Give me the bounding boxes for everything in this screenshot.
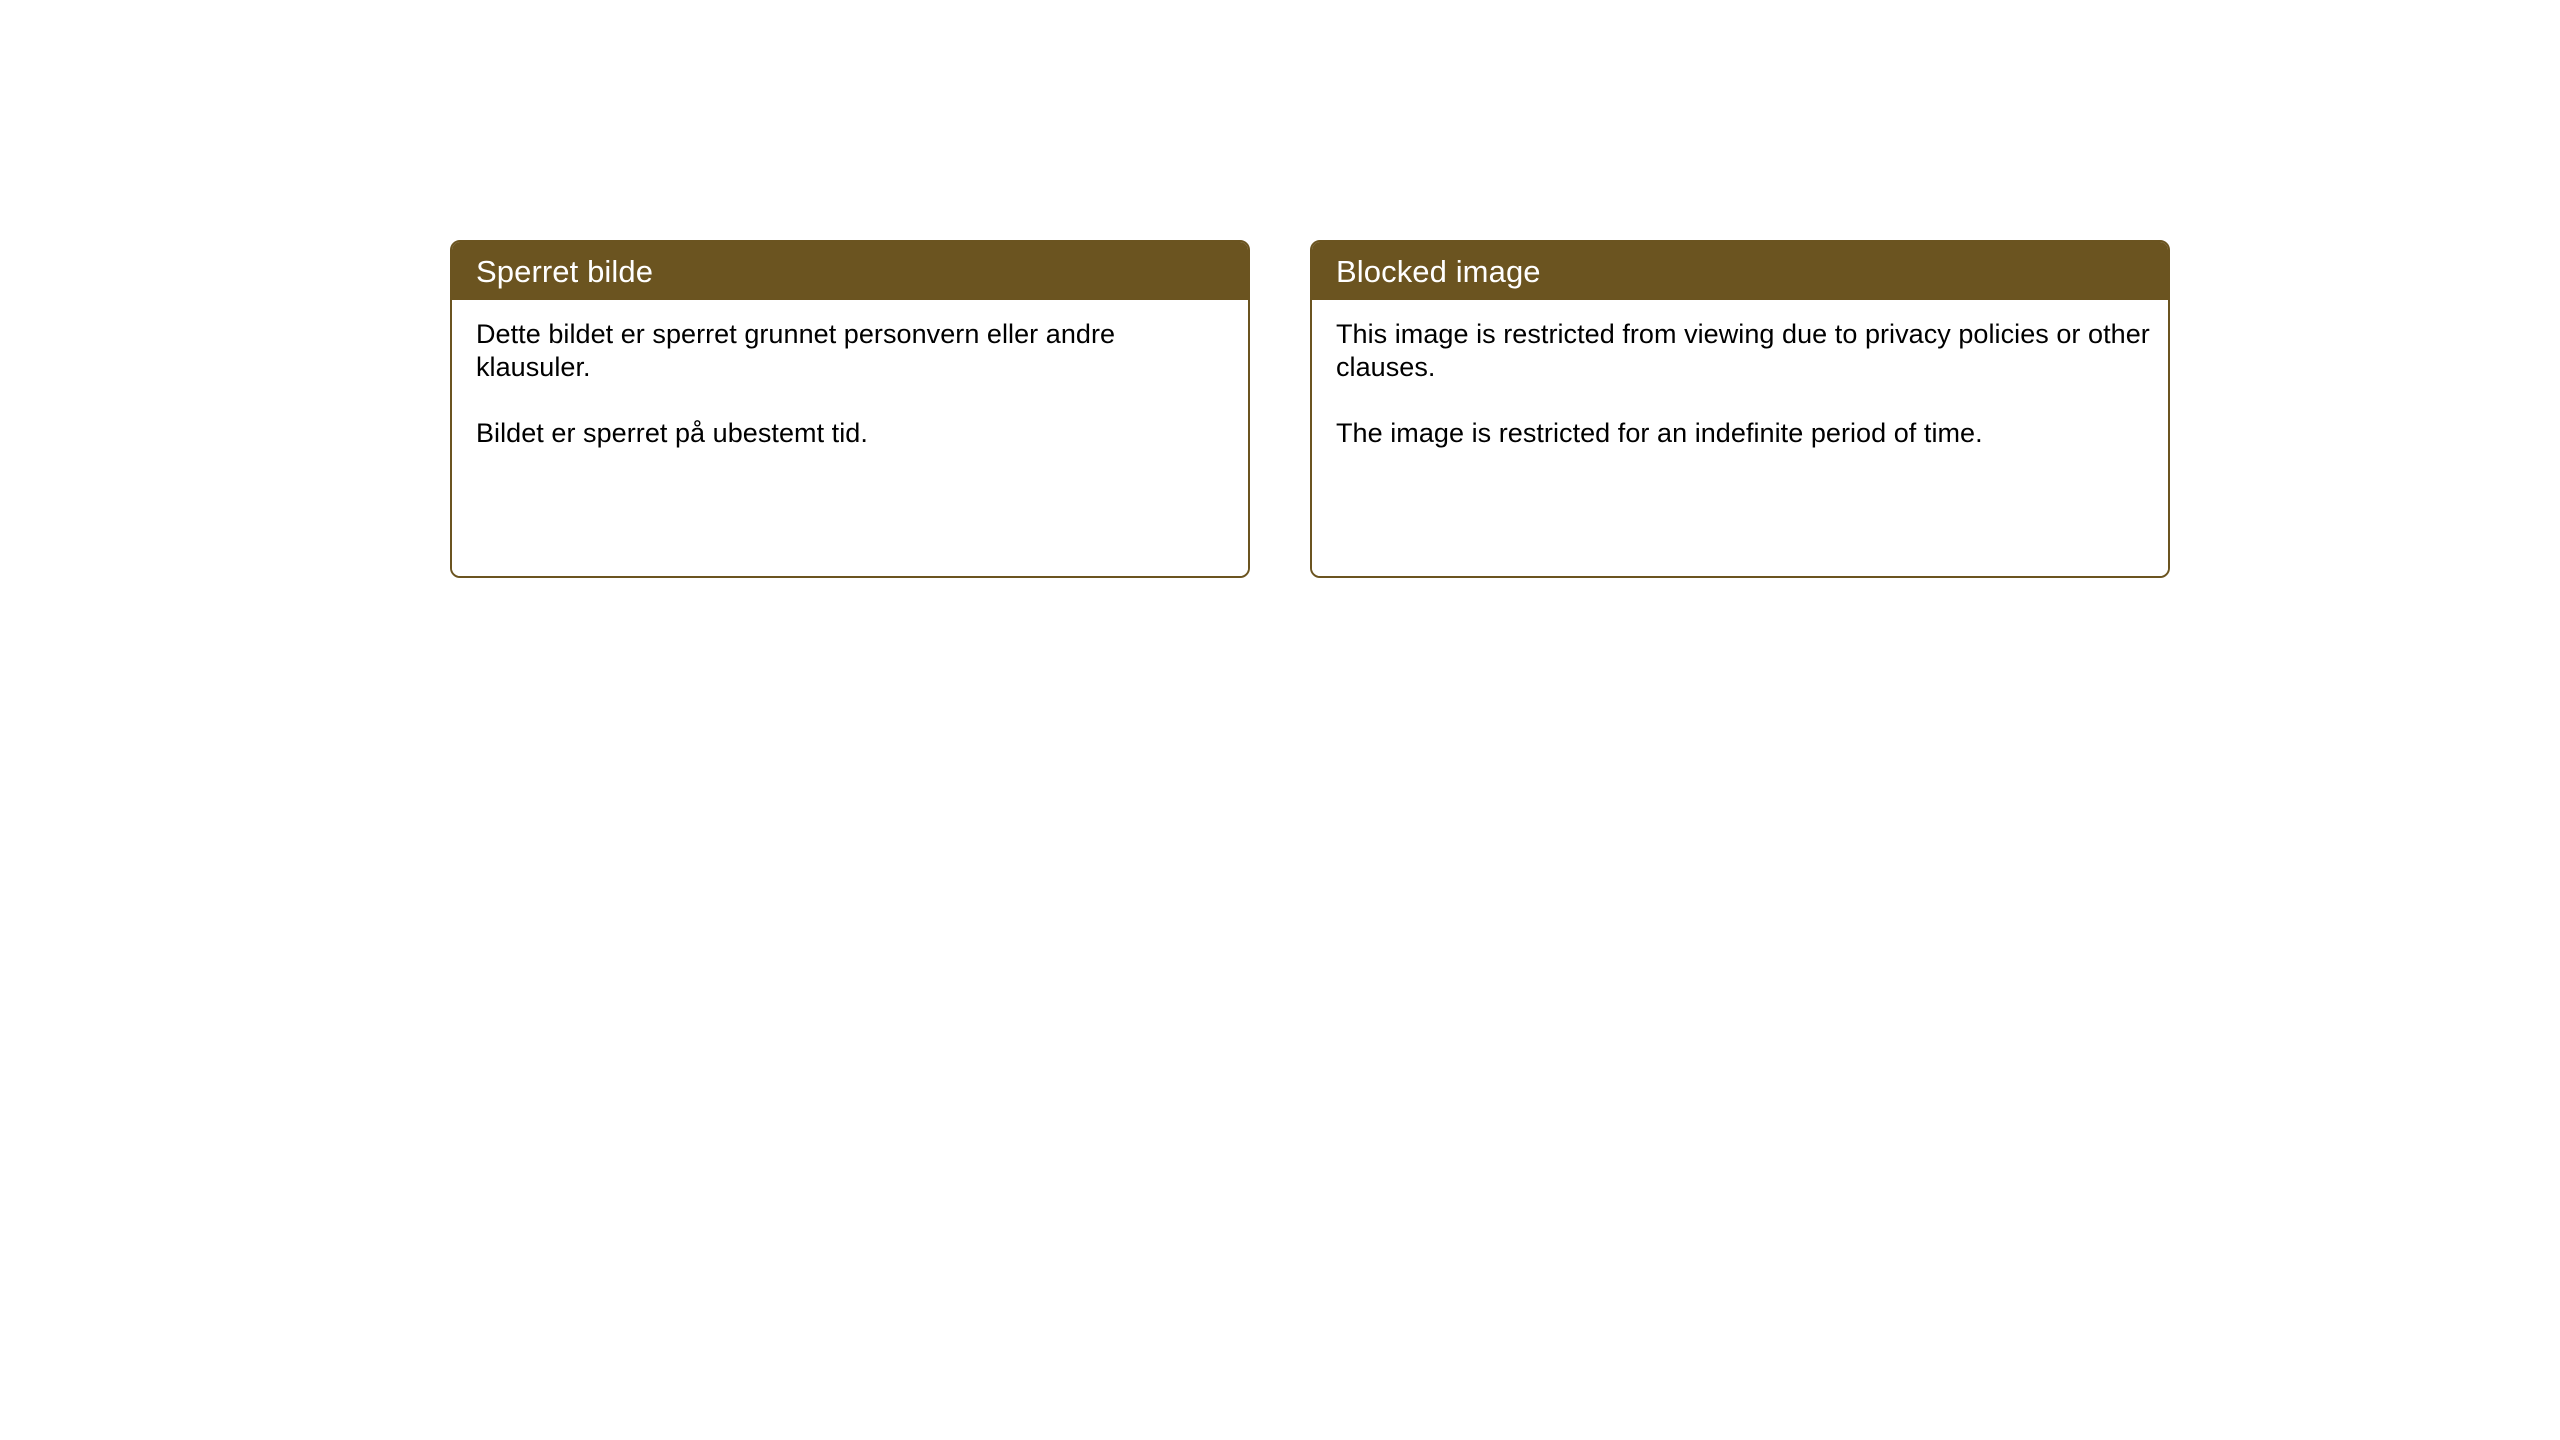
card-paragraph-privacy-english: This image is restricted from viewing du…: [1336, 318, 2150, 384]
card-header-norwegian: Sperret bilde: [452, 242, 1248, 300]
card-body-norwegian: Dette bildet er sperret grunnet personve…: [452, 300, 1248, 576]
blocked-image-notice-card-norwegian: Sperret bilde Dette bildet er sperret gr…: [450, 240, 1250, 578]
blocked-image-notice-card-english: Blocked image This image is restricted f…: [1310, 240, 2170, 578]
card-paragraph-duration-english: The image is restricted for an indefinit…: [1336, 417, 2150, 450]
card-paragraph-privacy-norwegian: Dette bildet er sperret grunnet personve…: [476, 318, 1226, 384]
card-body-english: This image is restricted from viewing du…: [1312, 300, 2168, 576]
card-title-norwegian: Sperret bilde: [476, 256, 653, 287]
card-header-english: Blocked image: [1312, 242, 2168, 300]
card-title-english: Blocked image: [1336, 256, 1541, 287]
card-paragraph-duration-norwegian: Bildet er sperret på ubestemt tid.: [476, 417, 1226, 450]
page-canvas: Sperret bilde Dette bildet er sperret gr…: [0, 0, 2560, 1440]
